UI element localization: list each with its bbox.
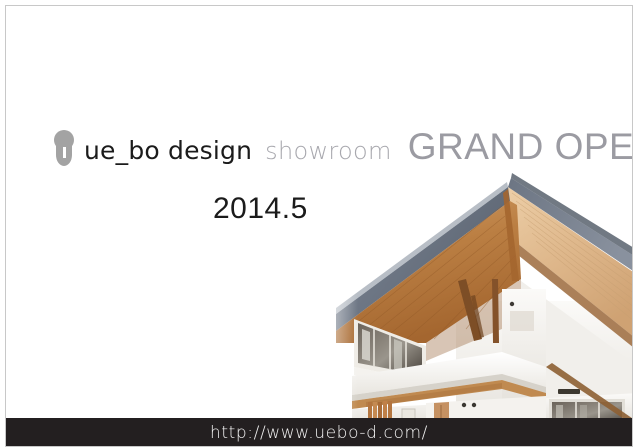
logo-notch-shape (63, 147, 66, 158)
brand-name: ue_bo design (84, 136, 252, 165)
grand-open-title: GRAND OPEN (408, 126, 633, 168)
house-illustration (306, 171, 633, 424)
house-exterior-photo (306, 171, 633, 424)
footer-url-bar: http://www.uebo-d.com/ (6, 418, 632, 447)
headline-row: ue_bo design showroom GRAND OPEN (53, 126, 633, 168)
website-url[interactable]: http://www.uebo-d.com/ (210, 423, 428, 443)
poster-canvas: ue_bo design showroom GRAND OPEN 2014.5.… (0, 0, 639, 448)
showroom-label: showroom (265, 137, 392, 165)
poster-frame: ue_bo design showroom GRAND OPEN 2014.5.… (5, 5, 633, 447)
uebo-logo-mark-icon (53, 130, 75, 166)
